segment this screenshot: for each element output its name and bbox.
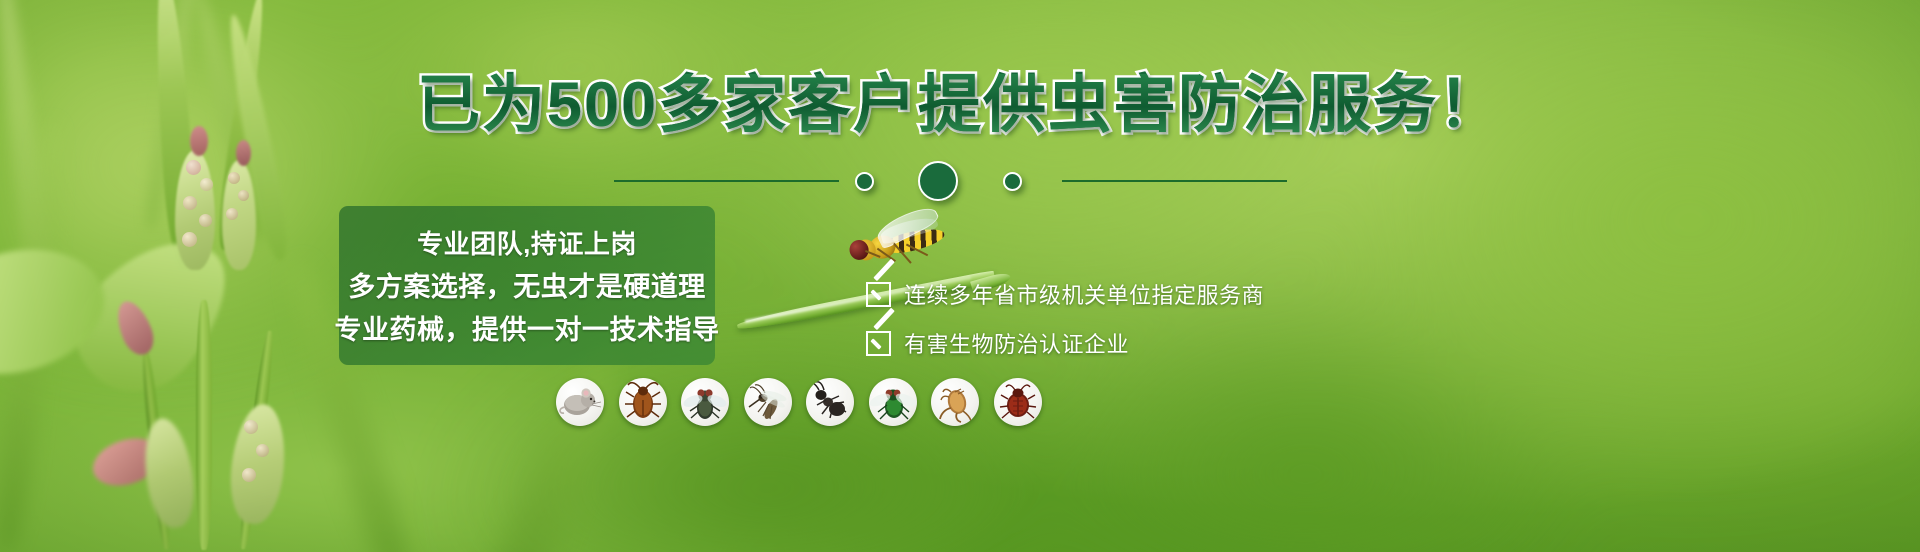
divider-line-right <box>1062 180 1287 182</box>
feature-line-3: 专业药械，提供一对一技术指导 <box>335 308 720 347</box>
feature-line-2: 多方案选择，无虫才是硬道理 <box>348 265 706 304</box>
cockroach-icon[interactable] <box>619 378 667 426</box>
decorative-divider <box>0 158 1920 204</box>
divider-line-left <box>614 180 839 182</box>
check-box-icon <box>866 331 891 356</box>
housefly-icon[interactable] <box>681 378 729 426</box>
blowfly-icon[interactable] <box>869 378 917 426</box>
list-item: 连续多年省市级机关单位指定服务商 <box>866 272 1386 316</box>
mosquito-icon[interactable] <box>744 378 792 426</box>
list-item: 有害生物防治认证企业 <box>866 321 1386 365</box>
bedbug-icon[interactable] <box>994 378 1042 426</box>
credential-label: 连续多年省市级机关单位指定服务商 <box>904 278 1264 310</box>
mouse-icon[interactable] <box>556 378 604 426</box>
credential-list: 连续多年省市级机关单位指定服务商 有害生物防治认证企业 <box>866 272 1386 365</box>
divider-dot-small-right <box>1003 172 1022 191</box>
feature-line-1: 专业团队,持证上岗 <box>417 224 637 261</box>
divider-dot-large <box>918 161 958 201</box>
pest-control-hero-banner: 已为500多家客户提供虫害防治服务！ 已为500多家客户提供虫害防治服务！ 专业… <box>0 0 1920 552</box>
credential-label: 有害生物防治认证企业 <box>904 327 1129 359</box>
page-title: 已为500多家客户提供虫害防治服务！ <box>0 74 1920 137</box>
ant-icon[interactable] <box>806 378 854 426</box>
pest-type-icon-row <box>556 378 1042 426</box>
check-box-icon <box>866 282 891 307</box>
feature-highlight-box: 专业团队,持证上岗 多方案选择，无虫才是硬道理 专业药械，提供一对一技术指导 <box>339 206 715 365</box>
divider-dot-small-left <box>855 172 874 191</box>
flea-icon[interactable] <box>931 378 979 426</box>
